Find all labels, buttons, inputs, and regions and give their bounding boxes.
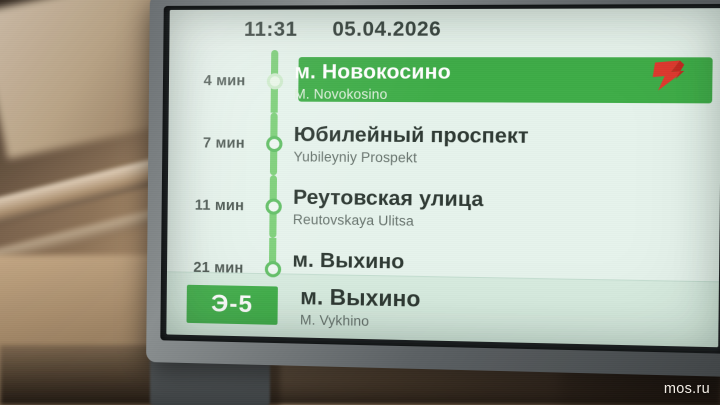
stop-name-en: Reutovskaya Ulitsa	[293, 213, 484, 230]
stop-dot	[265, 198, 281, 214]
date-label: 05.04.2026	[332, 18, 441, 42]
terminus-names: м. Выхино M. Vykhino	[300, 285, 421, 330]
passenger-info-screen: 11:31 05.04.2026 4 мин м. Новокосино M. …	[166, 8, 720, 347]
terminus-name-en: M. Vykhino	[300, 313, 420, 330]
clock-label: 11:31	[244, 18, 298, 41]
stop-name-ru: м. Новокосино	[294, 61, 451, 83]
route-number-badge: Э-5	[187, 285, 278, 325]
stop-list: 4 мин м. Новокосино M. Novokosino	[167, 50, 720, 310]
stop-name-ru: Юбилейный проспект	[294, 124, 529, 148]
route-track	[269, 113, 279, 176]
stop-name-ru: Реутовская улица	[293, 186, 484, 210]
route-track	[268, 175, 278, 238]
info-display-monitor: 11:31 05.04.2026 4 мин м. Новокосино M. …	[146, 0, 720, 377]
stop-dot	[264, 261, 280, 277]
stop-name-ru: м. Выхино	[292, 249, 404, 273]
terminus-name-ru: м. Выхино	[300, 285, 421, 311]
stop-names: Реутовская улица Reutovskaya Ulitsa	[293, 186, 484, 230]
stop-name-en: Yubileyniy Prospekt	[293, 150, 528, 167]
route-track	[270, 50, 280, 113]
stop-dot	[266, 136, 282, 152]
stop-names: м. Новокосино M. Novokosino	[294, 61, 451, 103]
stop-name-en: M. Novokosino	[294, 88, 450, 103]
watermark-label: mos.ru	[664, 381, 710, 397]
stop-eta: 7 мин	[168, 135, 257, 152]
stop-eta: 4 мин	[169, 73, 258, 89]
screen-header: 11:31 05.04.2026	[169, 8, 720, 50]
stop-eta: 11 мин	[168, 197, 257, 214]
red-flag-icon	[651, 58, 697, 94]
stop-names: Юбилейный проспект Yubileyniy Prospekt	[293, 124, 528, 167]
list-item[interactable]: 4 мин м. Новокосино M. Novokosino	[169, 50, 720, 115]
list-item[interactable]: 7 мин Юбилейный проспект Yubileyniy Pros…	[168, 112, 720, 180]
list-item[interactable]: 11 мин Реутовская улица Reutovskaya Ulit…	[167, 174, 720, 245]
route-terminus-panel: Э-5 м. Выхино M. Vykhino	[166, 271, 719, 347]
stop-dot	[266, 73, 282, 89]
screenshot-root: 11:31 05.04.2026 4 мин м. Новокосино M. …	[0, 0, 720, 405]
